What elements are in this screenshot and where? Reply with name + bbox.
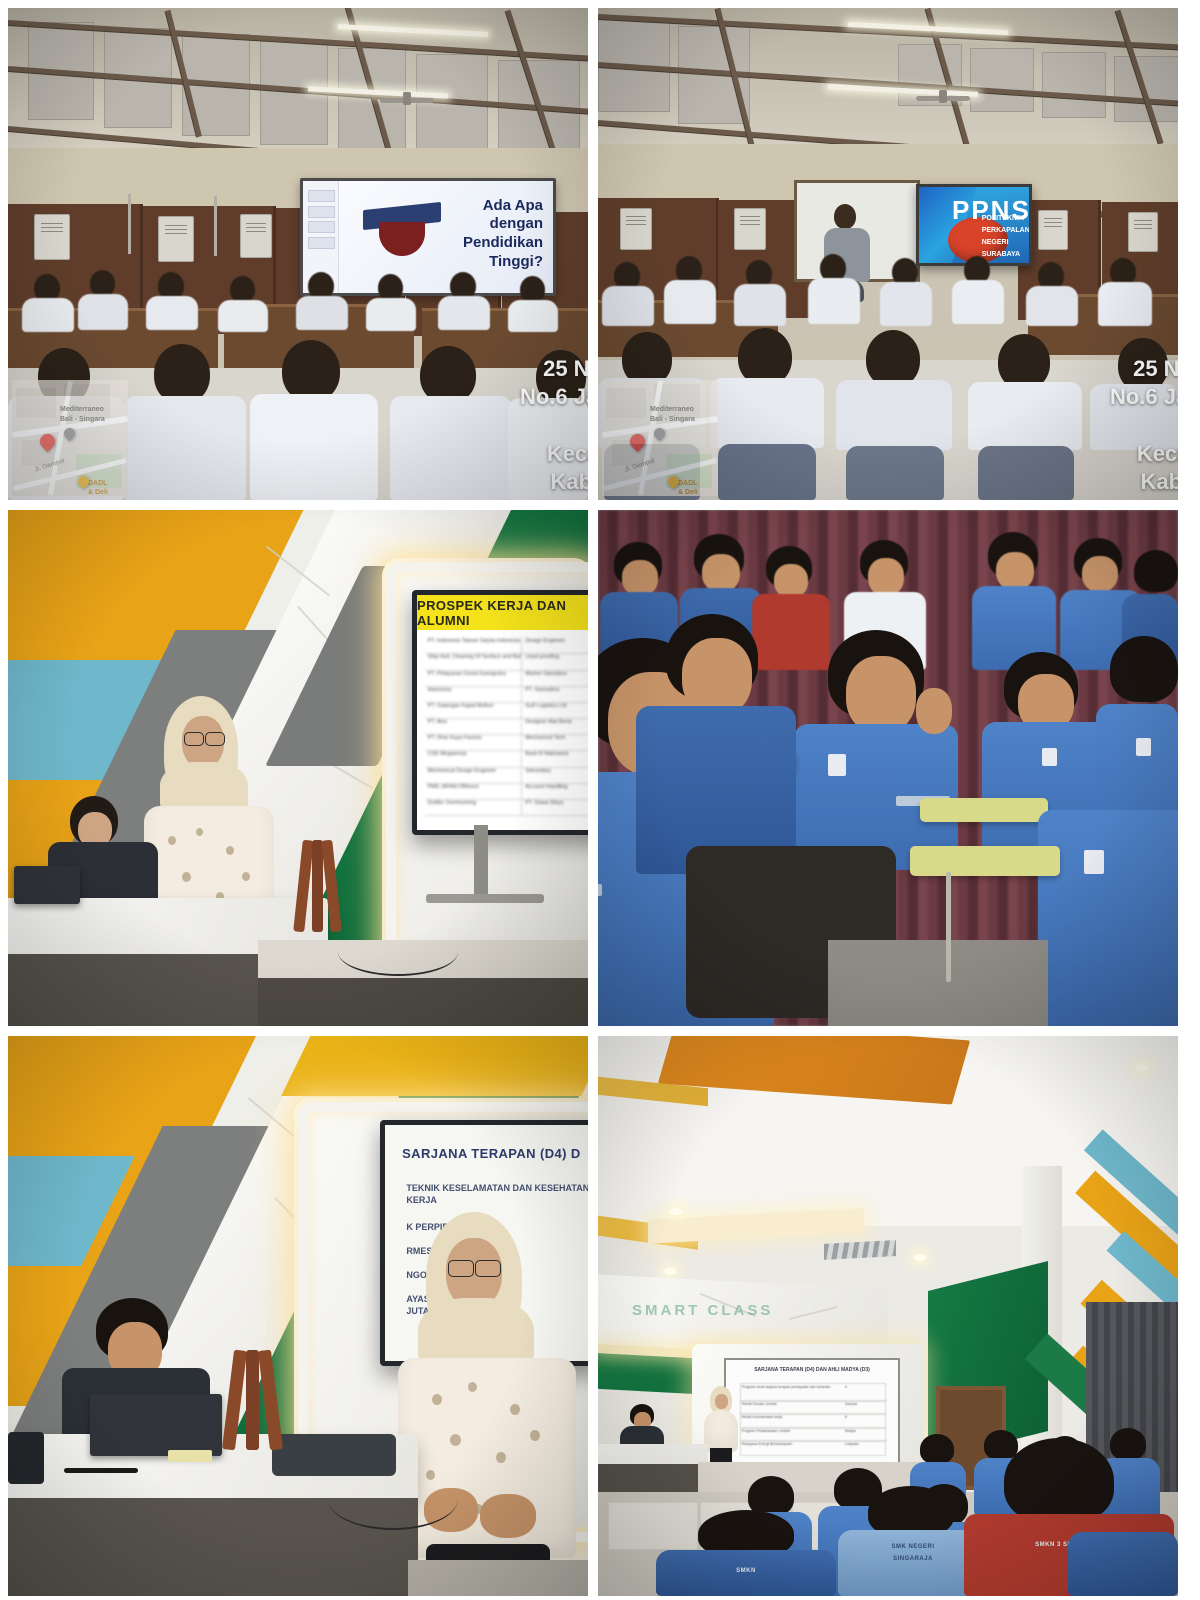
slide-title: SARJANA TERAPAN (D4) DAN AHLI MADYA (D3) xyxy=(736,1367,887,1373)
tablet-arm-chair xyxy=(920,798,1048,822)
phone xyxy=(8,1432,44,1484)
table-cell-company: Drafter Overlooming xyxy=(425,799,523,815)
table-cell-company: PT. Dhar Kaya Factory xyxy=(425,734,523,750)
uniform-badge xyxy=(828,754,846,776)
institution-line-1: POLITEKNIK xyxy=(982,213,1026,225)
table-cell-role: PT. Samudera xyxy=(522,686,588,702)
table-row: Astoneisa PT. Samudera xyxy=(425,686,588,703)
table-row: PT. Alus Designer Alat Berat xyxy=(425,718,588,735)
ceiling-fan xyxy=(380,98,434,103)
uniform-badge xyxy=(1136,738,1151,756)
table-cell-role: Gulf Logistics Ltd xyxy=(522,702,588,718)
student-group-midground xyxy=(598,244,1178,330)
downlight xyxy=(664,1268,676,1275)
conduit xyxy=(128,194,131,254)
slide-line-2: dengan xyxy=(408,215,543,234)
table-cell-role: Mechanical Tech xyxy=(522,734,588,750)
table-row: Drafter Overlooming PT. Dukai Sihya xyxy=(425,799,588,816)
panel-workshop-hall-presentation-left: Ada Apa dengan Pendidikan Tinggi? xyxy=(8,8,588,500)
table-cell-company: PT. Pelayanan Dunia Kamaputra xyxy=(425,670,523,686)
panel-smart-class-speaker-prospek: PROSPEK KERJA DAN ALUMNI PT. Indonesia T… xyxy=(8,510,588,1026)
table-row: Mechanical Design Engineer Sekondary xyxy=(425,767,588,784)
prospek-table: PT. Indonesia Taiwan Sejuta Indonesia De… xyxy=(425,637,588,825)
photo-collage: Ada Apa dengan Pendidikan Tinggi? xyxy=(0,0,1200,1600)
laptop xyxy=(90,1394,222,1456)
downlight xyxy=(914,1254,926,1261)
table-cell-role: Design Engineer xyxy=(522,637,588,653)
uniform-reflective-strip xyxy=(598,884,602,896)
power-cable xyxy=(328,1468,458,1530)
table-cell-role: Designer Alat Berat xyxy=(522,718,588,734)
table-cell-company: PT. Indonesia Taiwan Sejuta Indonesia xyxy=(425,637,523,653)
table-cell-company: Mechanical Design Engineer xyxy=(425,767,523,783)
program-item: TEKNIK KESELAMATAN DAN KESEHATAN KERJA xyxy=(406,1182,588,1206)
table-cell-role: PT. Dukai Sihya xyxy=(522,799,588,815)
table-row: PMS JAYAA Offshore Account Handling xyxy=(425,783,588,800)
table-cell-role: Lloyd proofing xyxy=(522,653,588,669)
panel-smart-class-wide-room: SMART CLASS SARJANA TERAPAN (D4) DAN AHL… xyxy=(598,1036,1178,1596)
hand xyxy=(916,688,952,734)
panel-smart-class-speaker-prodi: SARJANA TERAPAN (D4) D TEKNIK KESELAMATA… xyxy=(8,1036,588,1596)
student-foreground-right xyxy=(1038,810,1178,1026)
table-row: PT. Galangan Kapal Mufturi Gulf Logistic… xyxy=(425,702,588,719)
smart-class-wall-text: SMART CLASS xyxy=(632,1302,773,1319)
clerestory-window xyxy=(1042,52,1106,118)
table-cell-company: Astoneisa xyxy=(425,686,523,702)
table-cell-program: Program studi sarjana terapan perkapalan… xyxy=(741,1384,844,1401)
downlight xyxy=(670,1208,682,1215)
slide-thumbnail xyxy=(308,206,335,218)
table-cell-company: PT. Alus xyxy=(425,718,523,734)
slide-thumbnail xyxy=(308,190,335,202)
table-row: Ship Hull, Cleaning Of Surface and Balla… xyxy=(425,653,588,670)
table-cell-program: Teknik Desain Jumlah xyxy=(741,1401,844,1415)
tablet-arm-chair xyxy=(910,846,1060,876)
table-cell-role: Account Handling xyxy=(522,783,588,799)
electrical-panel xyxy=(34,214,70,260)
table-cell-role: Sekondary xyxy=(522,767,588,783)
laptop xyxy=(14,866,80,904)
pen xyxy=(64,1468,138,1473)
electrical-panel xyxy=(158,216,194,262)
tv-base xyxy=(426,894,544,903)
presentation-slide: PROSPEK KERJA DAN ALUMNI PT. Indonesia T… xyxy=(417,595,588,830)
slide-thumbnail xyxy=(308,221,335,233)
table-row: CSE Megaemas Bank B Nabrasesi xyxy=(425,750,588,767)
panel-workshop-hall-presentation-right: PPNS POLITEKNIK PERKAPALAN NEGERI SURABA… xyxy=(598,8,1178,500)
student-group-foreground xyxy=(8,338,588,500)
table-cell-company: Ship Hull, Cleaning Of Surface and Balla… xyxy=(425,653,523,669)
stage-floor xyxy=(408,1560,588,1596)
laptop-sticker xyxy=(168,1450,212,1462)
power-cable xyxy=(338,928,458,976)
presentation-display: PROSPEK KERJA DAN ALUMNI PT. Indonesia T… xyxy=(412,590,588,835)
slide-line-1: Ada Apa xyxy=(408,197,543,216)
glasses xyxy=(184,732,204,746)
downlight xyxy=(1136,1064,1148,1071)
glasses xyxy=(205,732,225,746)
tv-stand xyxy=(474,825,488,897)
wooden-stand xyxy=(294,840,340,940)
table-row: PT. Pelayanan Dunia Kamaputra Marine Ope… xyxy=(425,670,588,687)
uniform-badge xyxy=(1042,748,1057,766)
slide-title: PROSPEK KERJA DAN ALUMNI xyxy=(417,595,588,630)
glasses xyxy=(475,1260,501,1277)
chair-leg xyxy=(946,872,951,982)
wooden-stand xyxy=(226,1350,280,1456)
table-cell-company: CSE Megaemas xyxy=(425,750,523,766)
electrical-panel xyxy=(240,214,272,258)
table-cell-role: Bank B Nabrasesi xyxy=(522,750,588,766)
student-foreground-blue-left: SMKN xyxy=(656,1510,836,1596)
clerestory-window xyxy=(416,54,488,162)
slide-title: SARJANA TERAPAN (D4) D xyxy=(402,1146,588,1161)
hand-right xyxy=(480,1494,536,1538)
slide-line-3: Pendidikan xyxy=(408,234,543,253)
table-cell-company: PT. Galangan Kapal Mufturi xyxy=(425,702,523,718)
student-group-midground xyxy=(8,258,588,328)
uniform-badge xyxy=(1084,850,1104,874)
table-cell-value: Sampai xyxy=(844,1401,885,1415)
mural-yellow-stripe-top xyxy=(281,1036,588,1096)
student-foreground-blue-right xyxy=(1068,1532,1178,1596)
table-row: PT. Dhar Kaya Factory Mechanical Tech xyxy=(425,734,588,751)
panel-students-audience xyxy=(598,510,1178,1026)
female-speaker xyxy=(404,1212,584,1596)
student-group-foreground xyxy=(598,324,1178,500)
table-cell-role: Marine Operation xyxy=(522,670,588,686)
institution-line-2: PERKAPALAN xyxy=(982,225,1026,237)
ceiling-fan xyxy=(916,96,970,101)
stage-base xyxy=(258,978,588,1026)
slide-thumbnail xyxy=(308,237,335,249)
conduit xyxy=(214,196,217,256)
uniform-back-text: SMKN xyxy=(656,1568,836,1574)
clerestory-window xyxy=(970,48,1034,112)
table-cell-company: PMS JAYAA Offshore xyxy=(425,783,523,799)
glasses xyxy=(448,1260,474,1277)
floor-tiles xyxy=(828,940,1048,1026)
table-row: PT. Indonesia Taiwan Sejuta Indonesia De… xyxy=(425,637,588,654)
student-foreground-partial xyxy=(626,614,796,874)
table-cell-value: 4 xyxy=(844,1384,885,1401)
